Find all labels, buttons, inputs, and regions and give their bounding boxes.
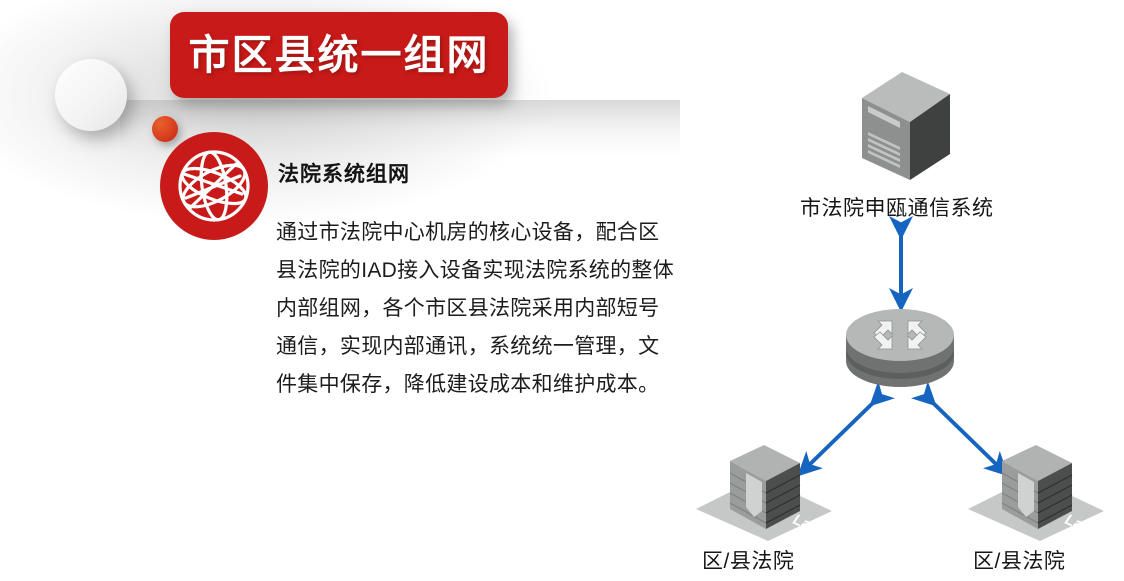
courthouse-icon-right: Law: [960, 437, 1110, 542]
title-banner: 市区县统一组网: [170, 12, 508, 98]
router-icon: [840, 305, 960, 400]
network-diagram: 市法院申瓯通信系统: [640, 0, 1124, 581]
server-node-label: 市法院申瓯通信系统: [800, 192, 994, 222]
server-tower-icon: [850, 62, 960, 187]
network-globe-icon: [160, 132, 268, 240]
court-node-label-left: 区/县法院: [702, 545, 794, 575]
page-title: 市区县统一组网: [189, 35, 490, 76]
decorative-circle-large: [55, 59, 127, 131]
info-heading: 法院系统组网: [278, 158, 410, 188]
courthouse-icon-left: Law: [688, 437, 838, 542]
info-body: 通过市法院中心机房的核心设备，配合区县法院的IAD接入设备实现法院系统的整体内部…: [276, 214, 676, 404]
court-node-label-right: 区/县法院: [973, 545, 1065, 575]
slide-canvas: 市区县统一组网 法院系统组网 通过市法院中心机房的核心设备，配合区县法院的IAD…: [0, 0, 1124, 581]
